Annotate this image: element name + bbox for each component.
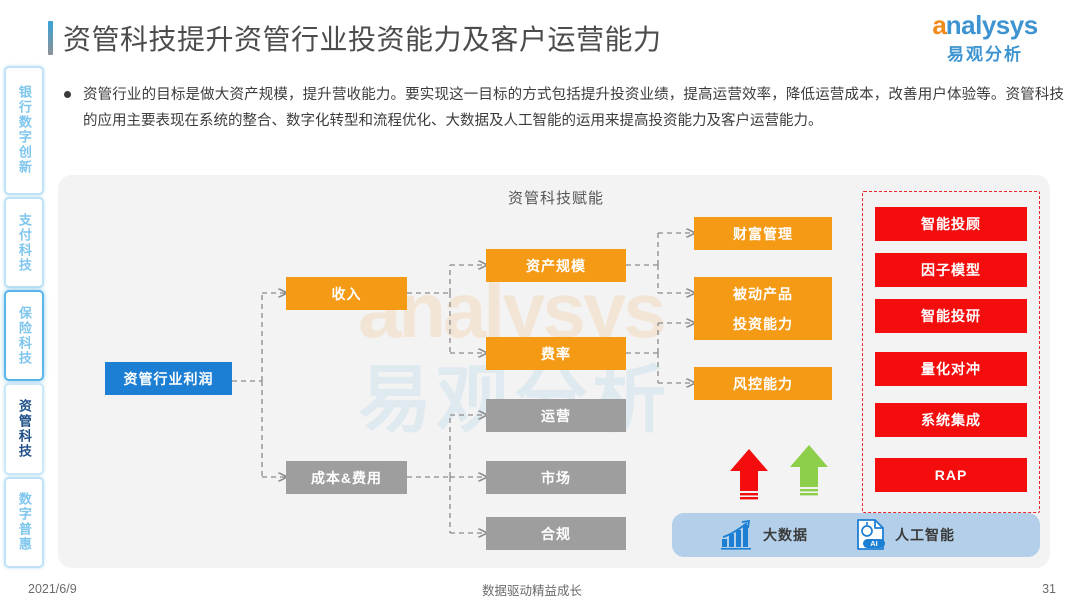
node-label: 因子模型 [921,260,981,280]
node-label: 投资能力 [733,314,793,334]
sidebar-item-digital-inclusive-finance[interactable]: 数字普惠 [4,477,44,568]
body-paragraph-text: 资管行业的目标是做大资产规模，提升营收能力。要实现这一目标的方式包括提升投资业绩… [83,82,1064,134]
title-accent-bar [48,21,53,55]
node-label: 运营 [541,406,571,426]
analysys-logo: a nalysys 易观分析 [910,12,1060,65]
node-rap[interactable]: RAP [875,458,1027,492]
node-label: 财富管理 [733,224,793,244]
node-label: 费率 [541,344,571,364]
foundation-label: 大数据 [763,525,808,545]
sidebar-item-asset-management-tech[interactable]: 资管科技 [4,383,44,474]
footer: 2021/6/9 数据驱动精益成长 31 [0,578,1080,600]
node-label: 市场 [541,468,571,488]
svg-text:AI: AI [870,539,878,548]
diagram-panel: analysys 易观分析 资管科技赋能 [58,175,1050,568]
sidebar-item-label: 资管科技 [17,399,31,459]
node-asset-scale[interactable]: 资产规模 [486,249,626,282]
node-label: 资产规模 [526,256,586,276]
node-label: 系统集成 [921,410,981,430]
page-title-text: 资管科技提升资管行业投资能力及客户运营能力 [63,18,662,58]
node-robo-advisor[interactable]: 智能投顾 [875,207,1027,241]
node-label: 收入 [332,284,362,304]
node-passive-products[interactable]: 被动产品 [694,277,832,310]
node-label: 被动产品 [733,284,793,304]
node-factor-model[interactable]: 因子模型 [875,253,1027,287]
node-label: 成本&费用 [311,468,382,488]
ai-document-icon: AI [854,518,886,552]
node-revenue[interactable]: 收入 [286,277,407,310]
footer-date: 2021/6/9 [28,582,77,596]
node-operations[interactable]: 运营 [486,399,626,432]
node-label: 量化对冲 [921,359,981,379]
page-title: 资管科技提升资管行业投资能力及客户运营能力 [48,18,662,58]
node-market[interactable]: 市场 [486,461,626,494]
node-label: 资管行业利润 [124,369,214,389]
node-fee-rate[interactable]: 费率 [486,337,626,370]
slide-page: 银行数字创新 支付科技 保险科技 资管科技 数字普惠 资管科技提升资管行业投资能… [0,0,1080,608]
foundation-label: 人工智能 [895,525,955,545]
up-arrow-green-icon [788,443,830,499]
node-root-profit[interactable]: 资管行业利润 [105,362,232,395]
logo-chinese-name: 易观分析 [910,40,1060,65]
sidebar-tab-rail: 银行数字创新 支付科技 保险科技 资管科技 数字普惠 [4,66,44,568]
logo-wordmark: nalysys [946,12,1038,38]
bar-chart-icon [720,520,754,550]
bullet-icon [64,91,71,98]
node-label: 合规 [541,524,571,544]
node-label: 风控能力 [733,374,793,394]
sidebar-item-label: 银行数字创新 [17,85,31,175]
node-compliance[interactable]: 合规 [486,517,626,550]
sidebar-item-bank-digital-innovation[interactable]: 银行数字创新 [4,66,44,195]
up-arrow-red-icon [728,447,770,503]
node-cost-expense[interactable]: 成本&费用 [286,461,407,494]
logo-mark-icon: a [932,12,945,38]
foundation-item-big-data[interactable]: 大数据 [720,520,808,550]
sidebar-item-label: 支付科技 [17,213,31,273]
sidebar-item-label: 保险科技 [17,306,31,366]
node-label: 智能投顾 [921,214,981,234]
node-risk-control-capability[interactable]: 风控能力 [694,367,832,400]
node-investment-capability[interactable]: 投资能力 [694,307,832,340]
node-system-integration[interactable]: 系统集成 [875,403,1027,437]
node-intelligent-research[interactable]: 智能投研 [875,299,1027,333]
node-wealth-management[interactable]: 财富管理 [694,217,832,250]
node-label: RAP [935,467,968,483]
node-quant-hedging[interactable]: 量化对冲 [875,352,1027,386]
sidebar-item-payment-tech[interactable]: 支付科技 [4,197,44,288]
sidebar-item-label: 数字普惠 [17,492,31,552]
footer-tagline: 数据驱动精益成长 [482,580,582,599]
footer-page-number: 31 [1042,582,1056,596]
node-label: 智能投研 [921,306,981,326]
sidebar-item-insurance-tech[interactable]: 保险科技 [4,290,44,381]
foundation-bar: 大数据 AI 人工智能 [672,513,1040,557]
body-paragraph: 资管行业的目标是做大资产规模，提升营收能力。要实现这一目标的方式包括提升投资业绩… [64,82,1064,134]
foundation-item-ai[interactable]: AI 人工智能 [854,518,955,552]
